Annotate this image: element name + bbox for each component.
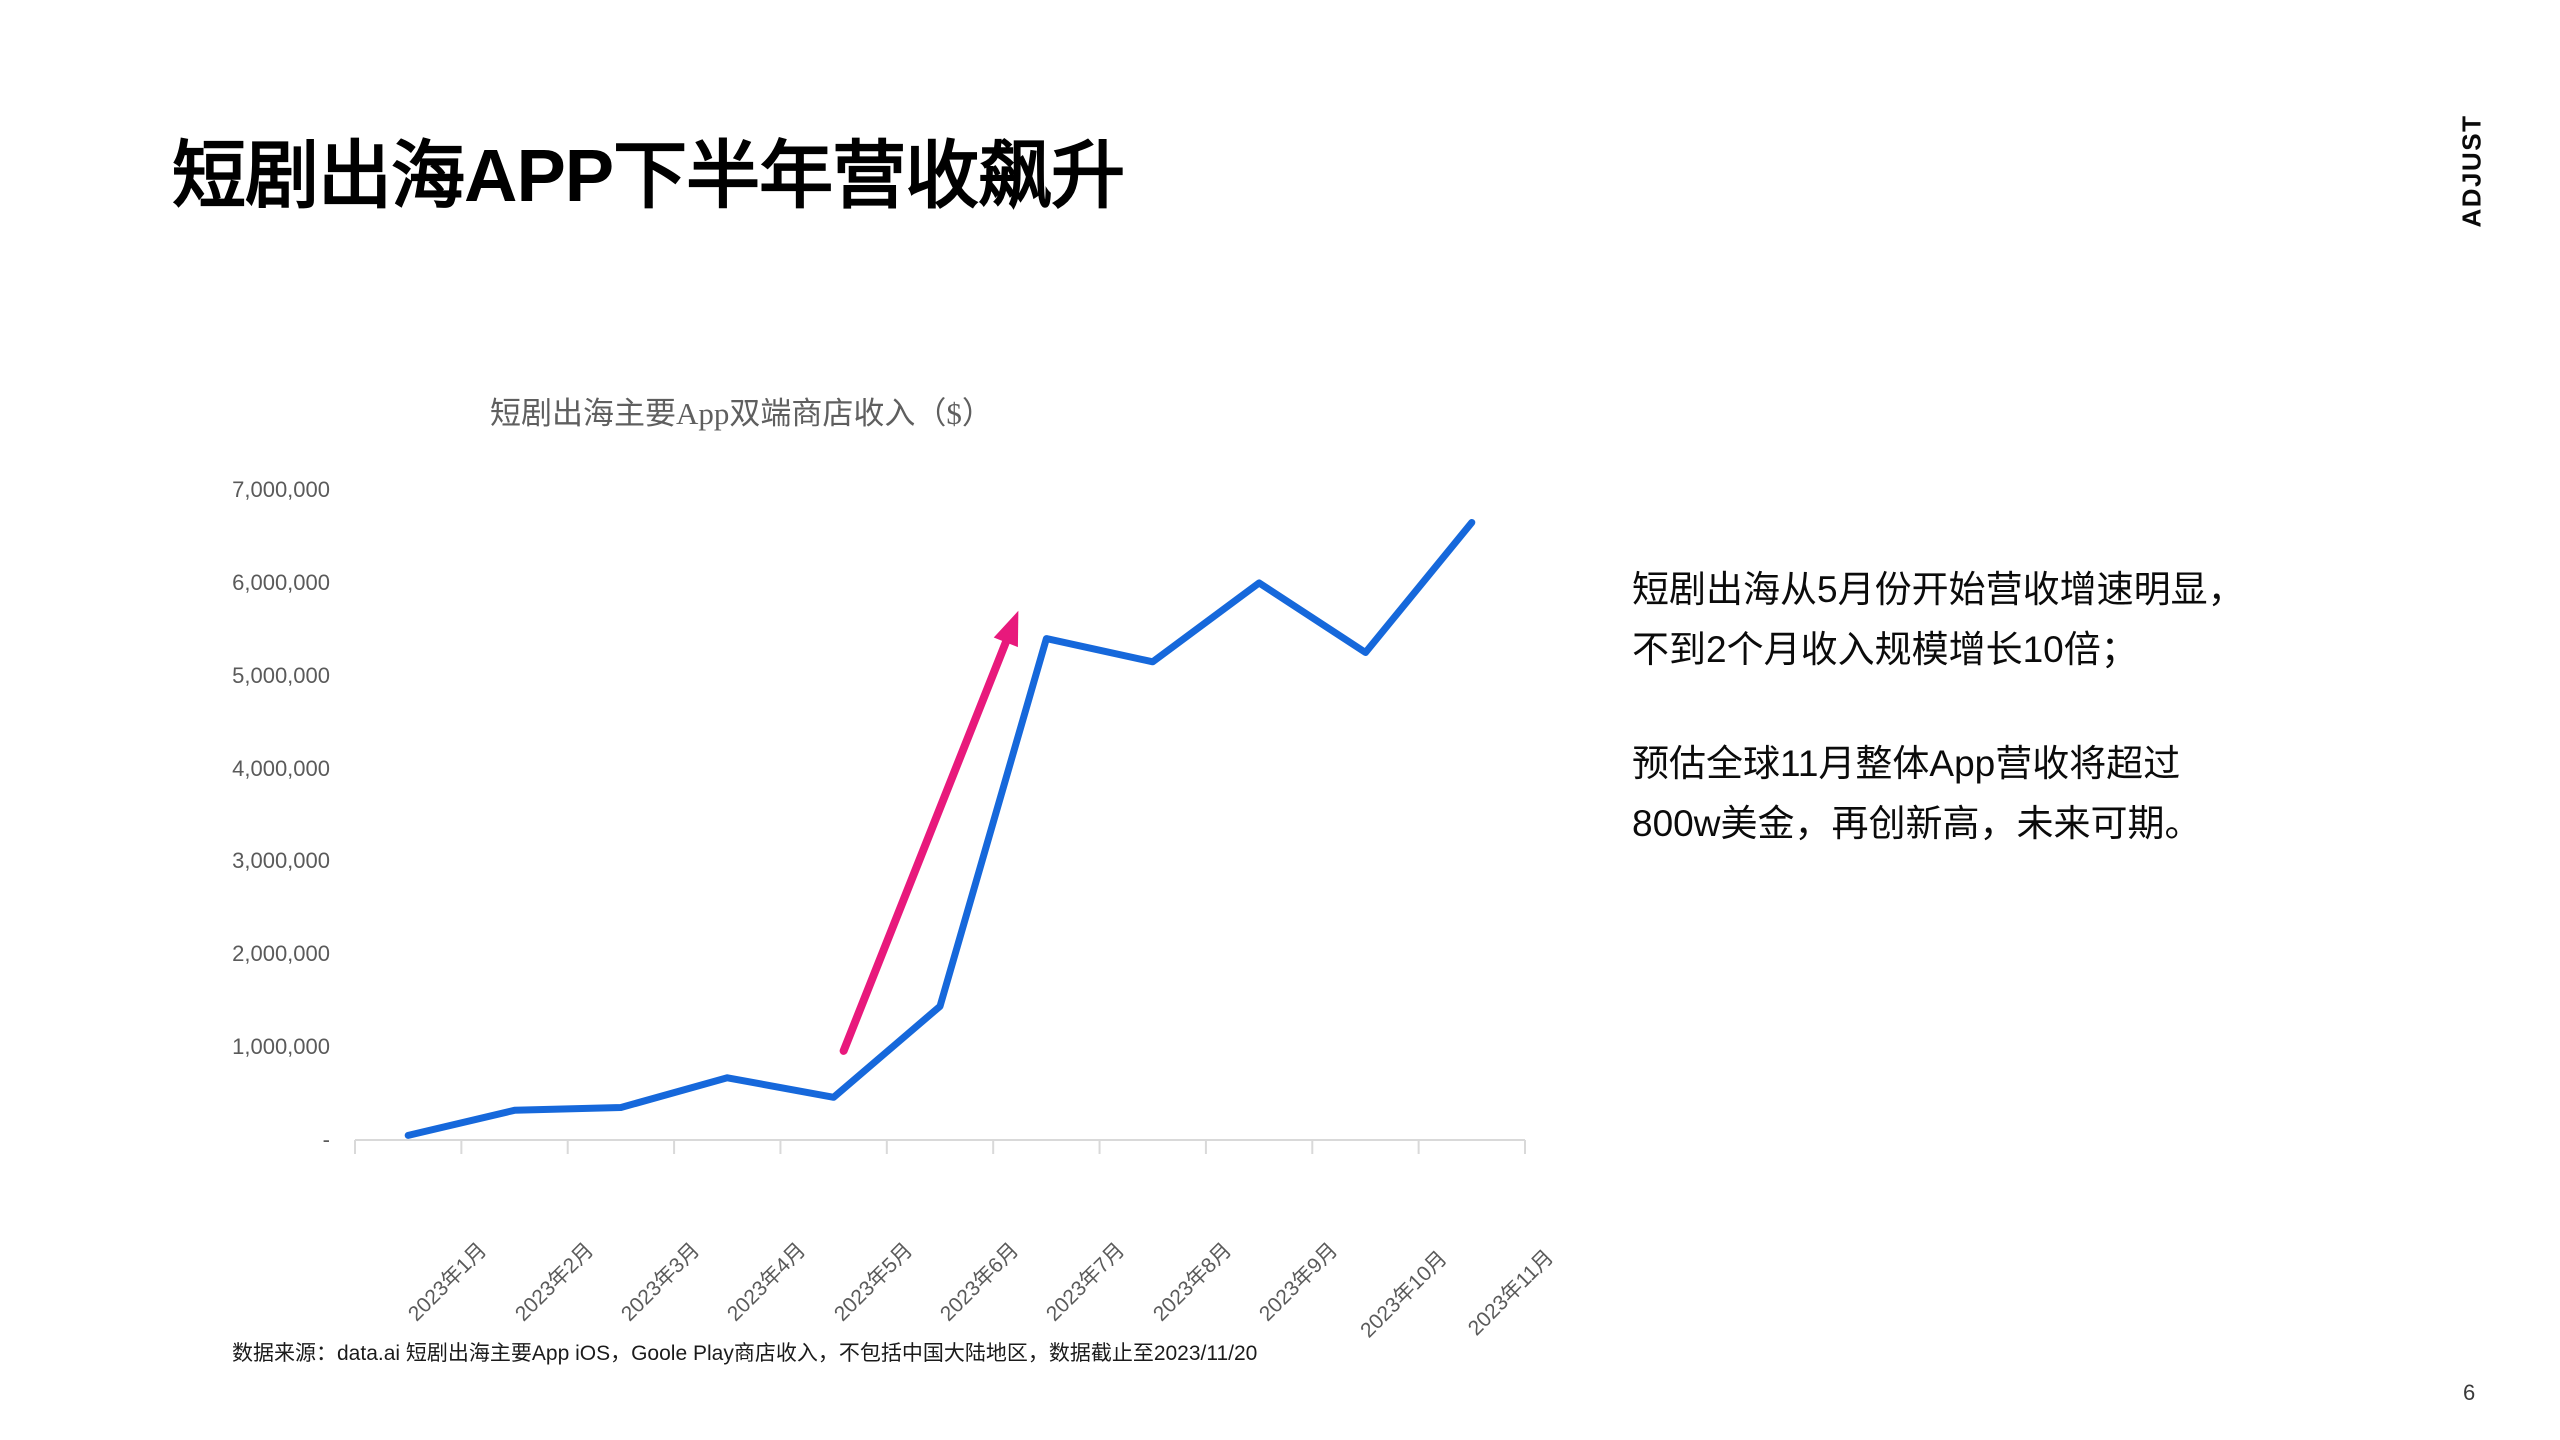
x-axis-tick-label: 2023年1月 xyxy=(401,1235,493,1327)
page-title: 短剧出海APP下半年营收飙升 xyxy=(172,135,1124,216)
commentary-paragraph-2: 预估全球11月整体App营收将超过 800w美金，再创新高，未来可期。 xyxy=(1632,734,2472,854)
x-axis-tick-label: 2023年5月 xyxy=(826,1235,918,1327)
x-axis-tick-label: 2023年6月 xyxy=(932,1235,1024,1327)
x-axis-tick-label: 2023年8月 xyxy=(1145,1235,1237,1327)
commentary-p2-line2: 800w美金，再创新高，未来可期。 xyxy=(1632,803,2201,844)
commentary-p2-line1: 预估全球11月整体App营收将超过 xyxy=(1632,743,2180,784)
adjust-logo: ADJUST xyxy=(2452,96,2492,246)
data-source-footnote: 数据来源：data.ai 短剧出海主要App iOS，Goole Play商店收… xyxy=(232,1337,1257,1367)
commentary-p1-line2: 不到2个月收入规模增长10倍； xyxy=(1632,629,2138,670)
x-axis-tick-label: 2023年10月 xyxy=(1353,1243,1453,1343)
x-axis-tick-label: 2023年7月 xyxy=(1039,1235,1131,1327)
commentary-block: 短剧出海从5月份开始营收增速明显， 不到2个月收入规模增长10倍； 预估全球11… xyxy=(1632,560,2472,854)
x-axis-tick-label: 2023年9月 xyxy=(1251,1235,1343,1327)
adjust-logo-text: ADJUST xyxy=(2457,114,2488,227)
revenue-chart: 短剧出海主要App双端商店收入（$） 7,000,0006,000,0005,0… xyxy=(150,370,1530,1310)
commentary-paragraph-1: 短剧出海从5月份开始营收增速明显， 不到2个月收入规模增长10倍； xyxy=(1632,560,2472,680)
x-axis-labels: 2023年1月2023年2月2023年3月2023年4月2023年5月2023年… xyxy=(150,370,1530,1310)
commentary-p1-line1: 短剧出海从5月份开始营收增速明显， xyxy=(1632,569,2245,610)
page-number: 6 xyxy=(2463,1380,2475,1406)
x-axis-tick-label: 2023年11月 xyxy=(1460,1242,1559,1341)
x-axis-tick-label: 2023年2月 xyxy=(507,1235,599,1327)
x-axis-tick-label: 2023年3月 xyxy=(613,1235,705,1327)
commentary-spacer xyxy=(1632,680,2472,734)
x-axis-tick-label: 2023年4月 xyxy=(720,1235,812,1327)
